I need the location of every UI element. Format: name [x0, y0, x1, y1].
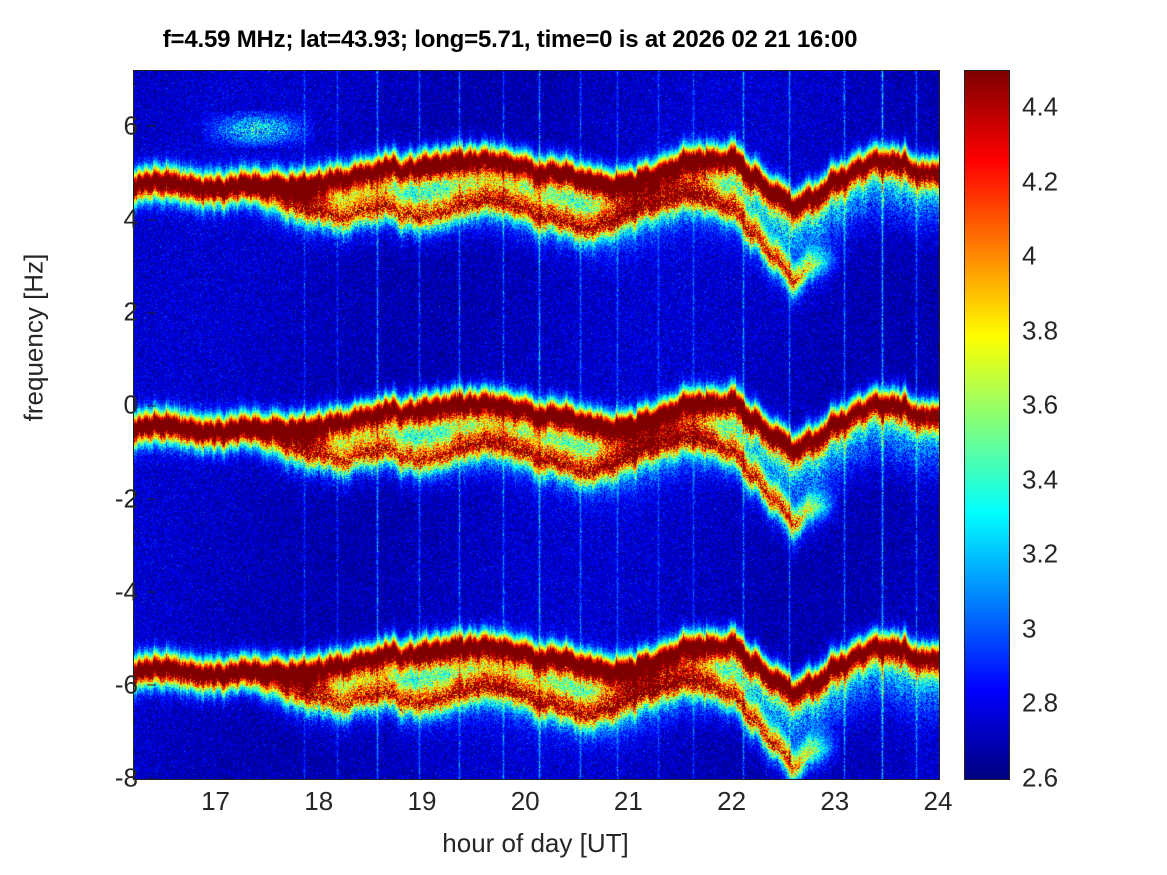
colorbar-tick-label: 4.4	[1022, 92, 1142, 123]
x-tick-label: 22	[672, 786, 792, 817]
colorbar-tick-label: 4.2	[1022, 166, 1142, 197]
colorbar-tick-label: 3.6	[1022, 390, 1142, 421]
x-tick-label: 21	[568, 786, 688, 817]
y-tick-label: 6	[18, 110, 138, 141]
y-tick-label: -8	[18, 763, 138, 794]
colorbar-tick-label: 3.4	[1022, 464, 1142, 495]
y-tick-label: 2	[18, 297, 138, 328]
x-tick-label: 24	[878, 786, 998, 817]
y-tick-mark	[147, 499, 156, 500]
y-tick-label: -6	[18, 669, 138, 700]
y-tick-label: -2	[18, 483, 138, 514]
y-tick-mark	[147, 778, 156, 779]
y-tick-mark	[147, 405, 156, 406]
y-tick-label: -4	[18, 576, 138, 607]
colorbar-tick-label: 2.6	[1022, 763, 1142, 794]
colorbar-gradient	[965, 71, 1009, 779]
colorbar-tick-label: 3.2	[1022, 539, 1142, 570]
x-tick-label: 23	[775, 786, 895, 817]
figure-title: f=4.59 MHz; lat=43.93; long=5.71, time=0…	[0, 26, 1020, 54]
colorbar-tick-label: 3	[1022, 613, 1142, 644]
x-tick-label: 18	[259, 786, 379, 817]
colorbar-tick-label: 4	[1022, 241, 1142, 272]
figure-canvas: f=4.59 MHz; lat=43.93; long=5.71, time=0…	[0, 0, 1167, 875]
colorbar-tick-label: 2.8	[1022, 688, 1142, 719]
x-tick-label: 20	[465, 786, 585, 817]
y-tick-label: 4	[18, 204, 138, 235]
y-axis-label: frequency [Hz]	[19, 78, 50, 598]
y-tick-mark	[147, 312, 156, 313]
spectrogram-plot-area[interactable]	[133, 70, 940, 780]
spectrogram-image	[134, 71, 939, 779]
y-tick-mark	[147, 592, 156, 593]
y-tick-mark	[147, 219, 156, 220]
y-tick-mark	[147, 126, 156, 127]
x-tick-label: 19	[362, 786, 482, 817]
x-axis-label: hour of day [UT]	[133, 828, 938, 859]
colorbar[interactable]	[964, 70, 1010, 780]
y-tick-mark	[147, 685, 156, 686]
colorbar-tick-label: 3.8	[1022, 315, 1142, 346]
x-tick-label: 17	[156, 786, 276, 817]
y-tick-label: 0	[18, 390, 138, 421]
